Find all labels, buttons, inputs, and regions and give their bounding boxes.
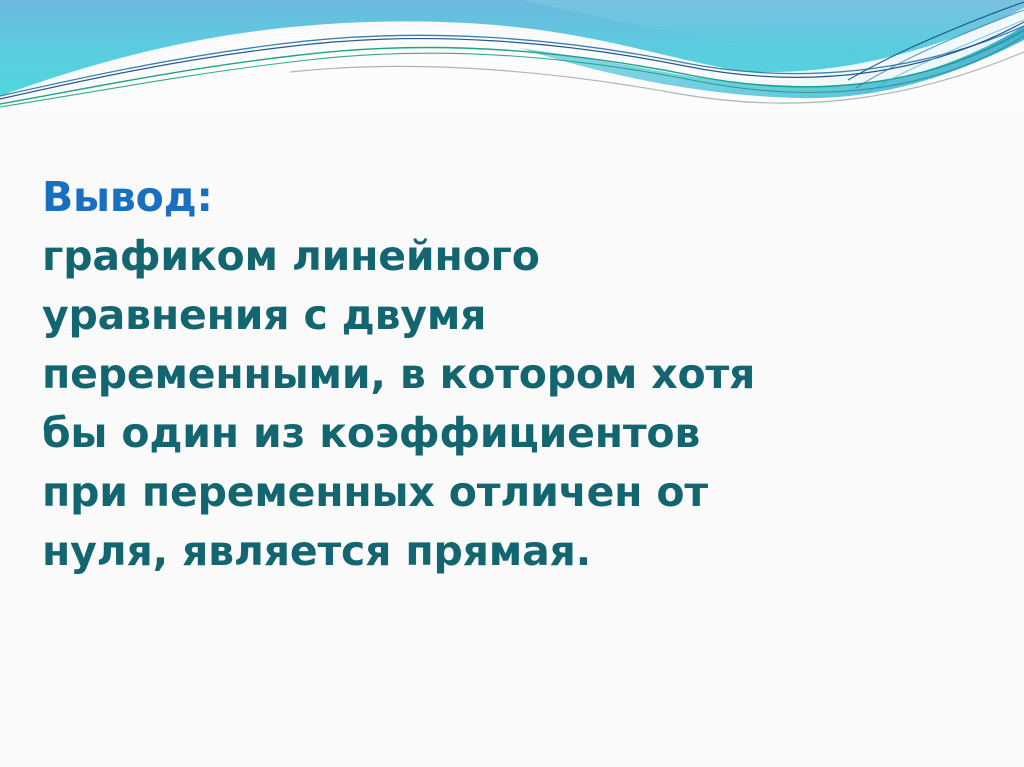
body-line-5: при переменных отличен от xyxy=(42,463,972,522)
slide-text-block: Вывод: графиком линейного уравнения с дв… xyxy=(42,168,972,581)
presentation-slide: Вывод: графиком линейного уравнения с дв… xyxy=(0,0,1024,767)
wave-banner xyxy=(0,0,1024,112)
wave-banner-graphic xyxy=(0,0,1024,112)
body-line-4: бы один из коэффициентов xyxy=(42,404,972,463)
conclusion-heading: Вывод: xyxy=(42,168,972,227)
body-line-3: переменными, в котором хотя xyxy=(42,345,972,404)
body-line-6: нуля, является прямая. xyxy=(42,522,972,581)
body-line-1: графиком линейного xyxy=(42,227,972,286)
body-line-2: уравнения с двумя xyxy=(42,286,972,345)
